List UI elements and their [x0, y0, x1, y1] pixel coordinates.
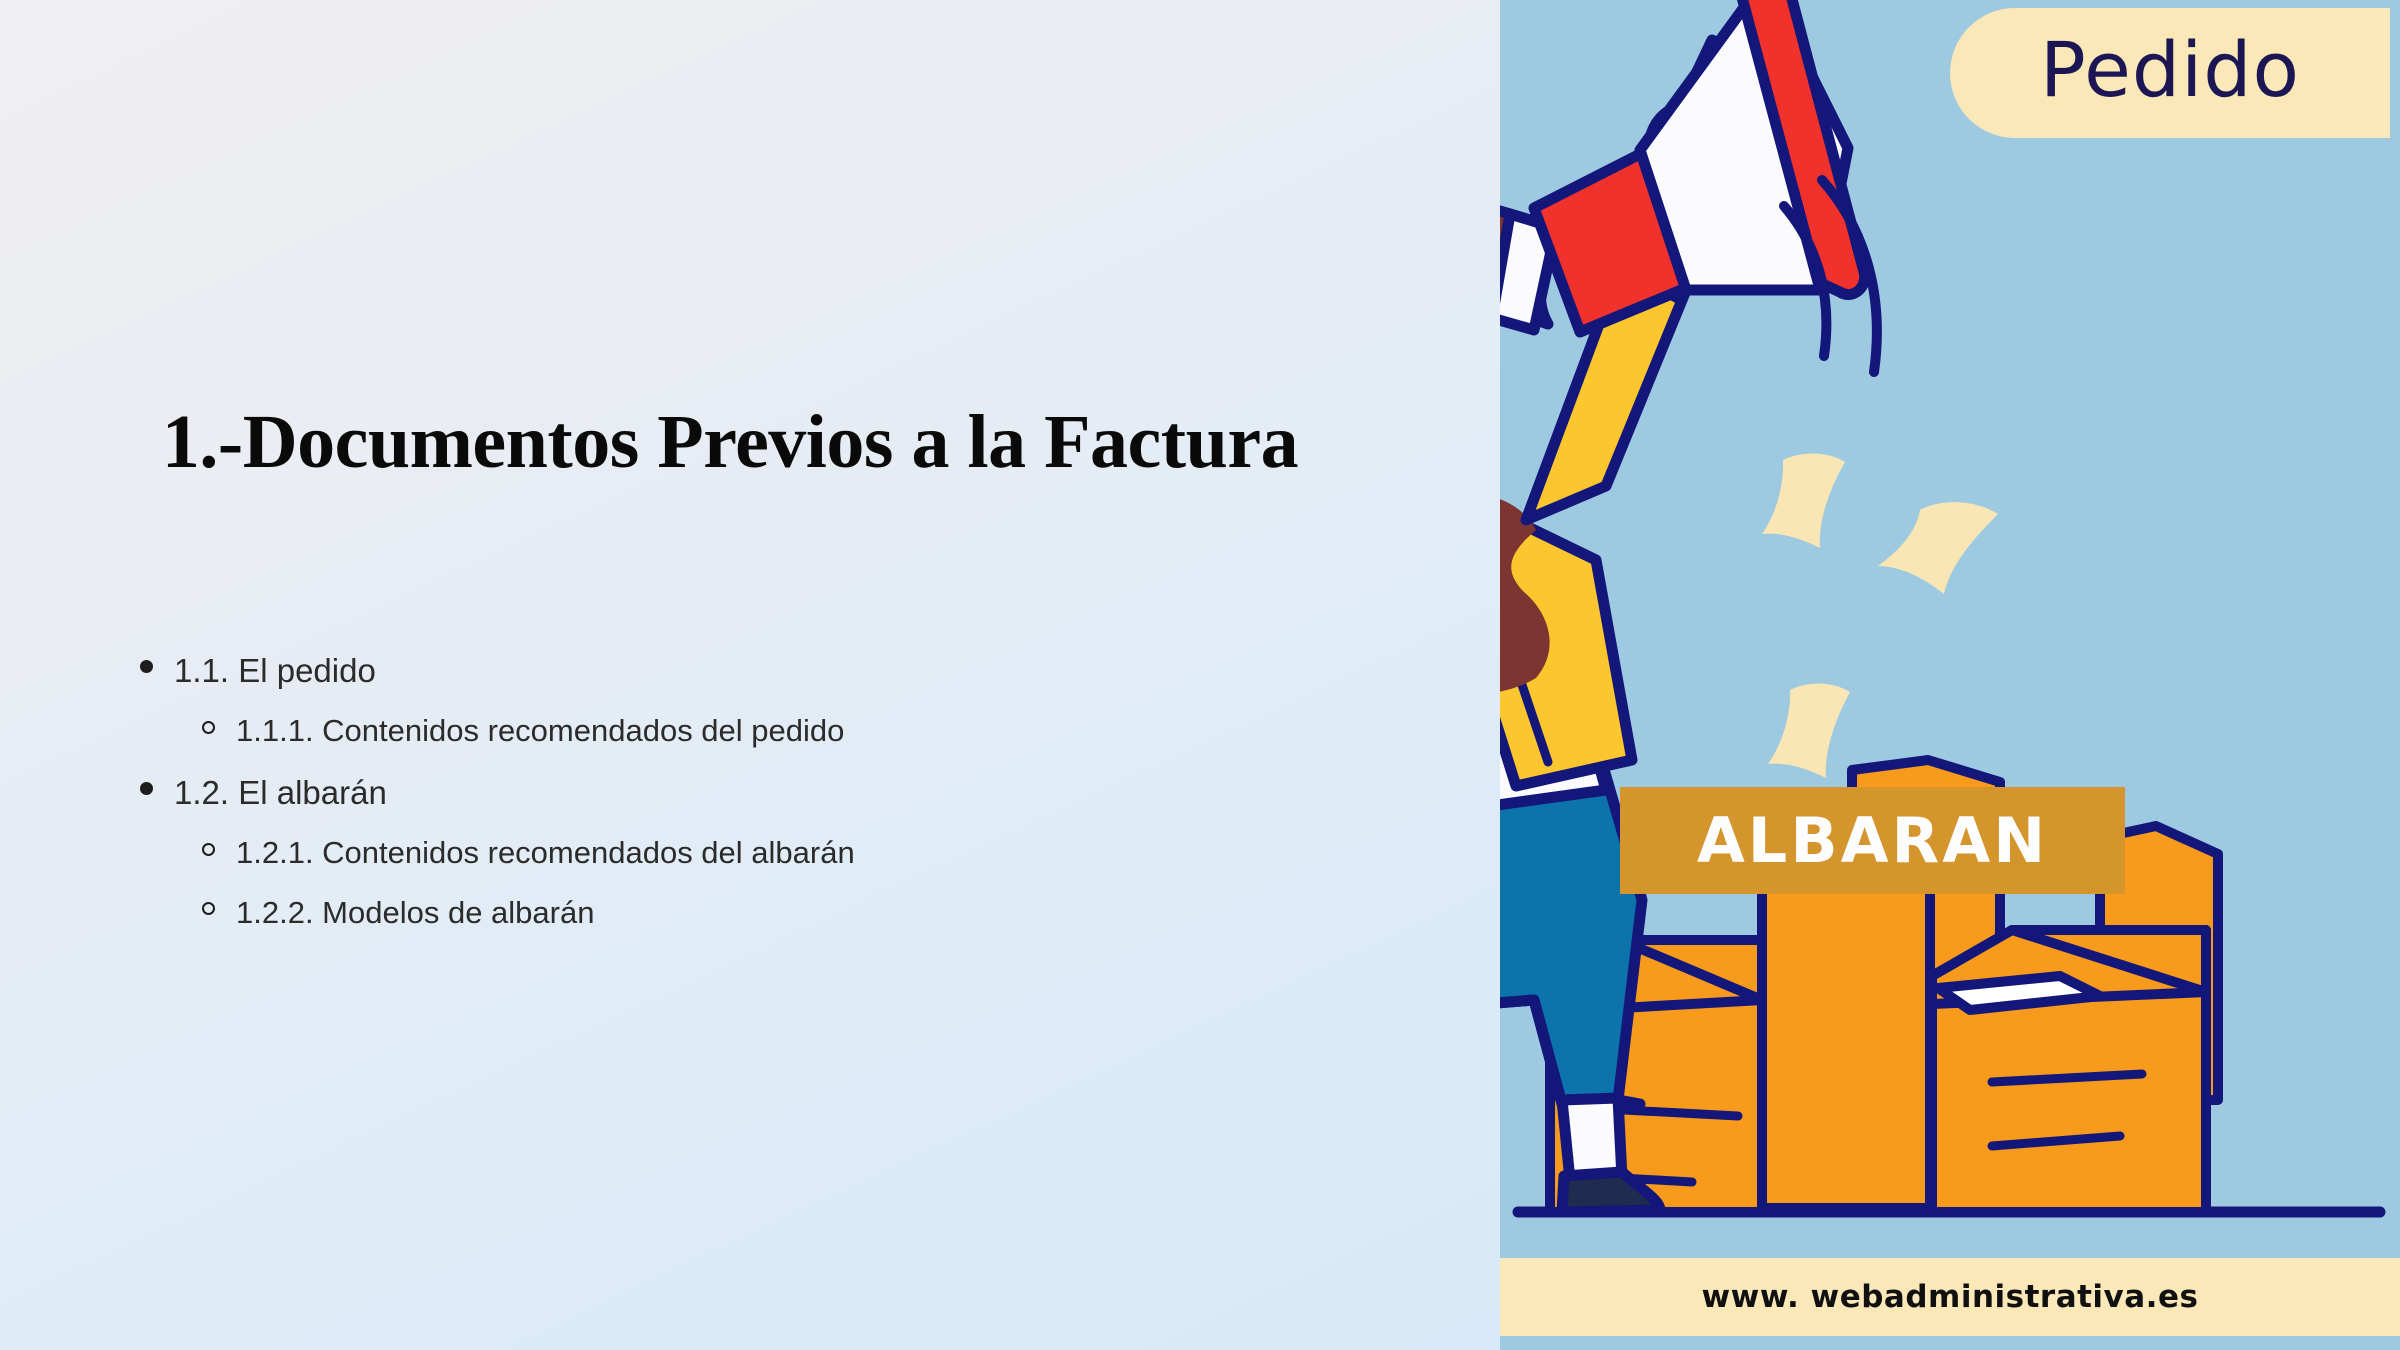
list-item-label: 1.1. El pedido: [174, 650, 1420, 691]
slide-canvas: 1.-Documentos Previos a la Factura 1.1. …: [0, 0, 2400, 1350]
bullet-circle-icon: [182, 712, 236, 744]
list-item: 1.1.1. Contenidos recomendados del pedid…: [182, 712, 1420, 751]
pedido-badge-label: Pedido: [2040, 32, 2300, 114]
bullet-circle-icon: [182, 894, 236, 926]
pedido-badge: Pedido: [1950, 8, 2390, 138]
list-item: 1.2. El albarán: [120, 772, 1420, 813]
list-item-label: 1.2. El albarán: [174, 772, 1420, 813]
person-holding-megaphone-icon: [1500, 0, 2400, 1350]
list-item: 1.2.2. Modelos de albarán: [182, 894, 1420, 933]
flying-papers-icon: [1762, 454, 1998, 779]
bullet-disc-icon: [120, 772, 174, 806]
albaran-banner-label: ALBARAN: [1697, 810, 2048, 872]
illustration-panel: Pedido ALBARAN www. webadministrativa.es: [1500, 0, 2400, 1350]
megaphone-icon: [1500, 0, 1865, 332]
page-title: 1.-Documentos Previos a la Factura: [60, 399, 1400, 486]
list-item: 1.1. El pedido: [120, 650, 1420, 691]
content-panel: 1.-Documentos Previos a la Factura 1.1. …: [0, 0, 1500, 1350]
footer-url-label: www. webadministrativa.es: [1702, 1279, 2199, 1315]
list-item-label: 1.1.1. Contenidos recomendados del pedid…: [236, 712, 1420, 751]
list-item-label: 1.2.2. Modelos de albarán: [236, 894, 1420, 933]
albaran-banner: ALBARAN: [1620, 787, 2125, 894]
list-item: 1.2.1. Contenidos recomendados del albar…: [182, 834, 1420, 873]
bullet-disc-icon: [120, 650, 174, 684]
footer-band: www. webadministrativa.es: [1500, 1258, 2400, 1336]
bullet-circle-icon: [182, 834, 236, 866]
outline-list: 1.1. El pedido 1.1.1. Contenidos recomen…: [120, 650, 1420, 954]
list-item-label: 1.2.1. Contenidos recomendados del albar…: [236, 834, 1420, 873]
